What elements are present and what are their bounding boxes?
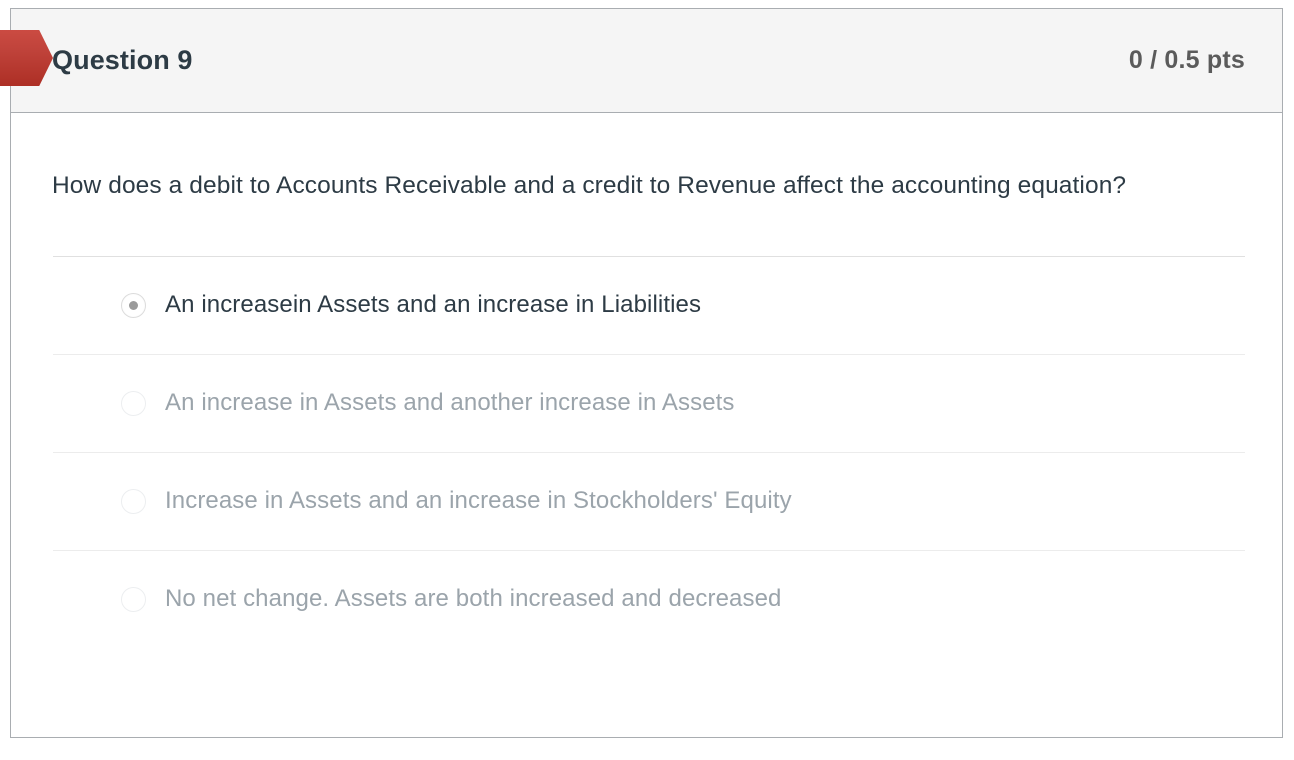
answer-option-2[interactable]: An increase in Assets and another increa… (53, 354, 1245, 452)
question-title: Question 9 (52, 47, 193, 74)
question-points: 0 / 0.5 pts (1129, 48, 1245, 73)
flag-marker-icon (0, 30, 53, 86)
answer-list: An increasein Assets and an increase in … (11, 256, 1282, 648)
question-header: Question 9 0 / 0.5 pts (11, 9, 1282, 113)
radio-unselected-icon[interactable] (121, 489, 146, 514)
answer-option-2-label: An increase in Assets and another increa… (165, 389, 735, 418)
radio-selected-icon[interactable] (121, 293, 146, 318)
answer-option-1-label: An increasein Assets and an increase in … (165, 291, 701, 320)
question-prompt: How does a debit to Accounts Receivable … (11, 113, 1202, 210)
answer-option-4-label: No net change. Assets are both increased… (165, 585, 781, 614)
question-card: Question 9 0 / 0.5 pts How does a debit … (10, 8, 1283, 738)
answer-option-3[interactable]: Increase in Assets and an increase in St… (53, 452, 1245, 550)
answer-option-1[interactable]: An increasein Assets and an increase in … (53, 256, 1245, 354)
radio-unselected-icon[interactable] (121, 587, 146, 612)
page-root: Question 9 0 / 0.5 pts How does a debit … (0, 0, 1294, 760)
question-body: How does a debit to Accounts Receivable … (11, 113, 1282, 648)
radio-unselected-icon[interactable] (121, 391, 146, 416)
answer-option-3-label: Increase in Assets and an increase in St… (165, 487, 792, 516)
answer-option-4[interactable]: No net change. Assets are both increased… (53, 550, 1245, 648)
